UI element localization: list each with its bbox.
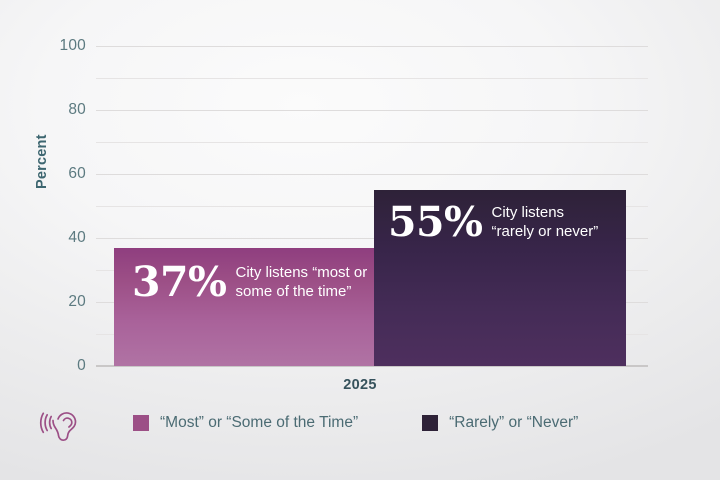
x-tick-label-2025: 2025 bbox=[0, 377, 720, 393]
y-tick-label-40: 40 bbox=[68, 229, 86, 247]
y-axis-title: Percent bbox=[34, 134, 50, 189]
listening-ear-icon bbox=[38, 402, 86, 446]
y-tick-label-20: 20 bbox=[68, 293, 86, 311]
legend-swatch-icon-rarely-or-never bbox=[422, 415, 438, 431]
plot-area: 100 80 60 40 20 0 bbox=[96, 46, 648, 366]
bar-chart-figure: Percent 100 80 60 40 20 0 37% City liste… bbox=[0, 0, 720, 480]
bar-rarely-or-never[interactable] bbox=[374, 190, 626, 366]
chart-legend: “Most” or “Some of the Time” “Rarely” or… bbox=[133, 414, 578, 432]
legend-item-most-or-some[interactable]: “Most” or “Some of the Time” bbox=[133, 414, 358, 432]
gridline-70 bbox=[96, 142, 648, 143]
y-tick-label-60: 60 bbox=[68, 165, 86, 183]
y-tick-label-100: 100 bbox=[60, 37, 86, 55]
gridline-100 bbox=[96, 46, 648, 47]
y-tick-label-80: 80 bbox=[68, 101, 86, 119]
legend-item-rarely-or-never[interactable]: “Rarely” or “Never” bbox=[422, 414, 578, 432]
legend-label-most-or-some: “Most” or “Some of the Time” bbox=[160, 414, 358, 432]
gridline-60 bbox=[96, 174, 648, 175]
legend-label-rarely-or-never: “Rarely” or “Never” bbox=[449, 414, 578, 432]
gridline-90 bbox=[96, 78, 648, 79]
legend-swatch-icon-most-or-some bbox=[133, 415, 149, 431]
bar-most-or-some-of-the-time[interactable] bbox=[114, 248, 374, 366]
gridline-80 bbox=[96, 110, 648, 111]
y-tick-label-0: 0 bbox=[77, 357, 86, 375]
